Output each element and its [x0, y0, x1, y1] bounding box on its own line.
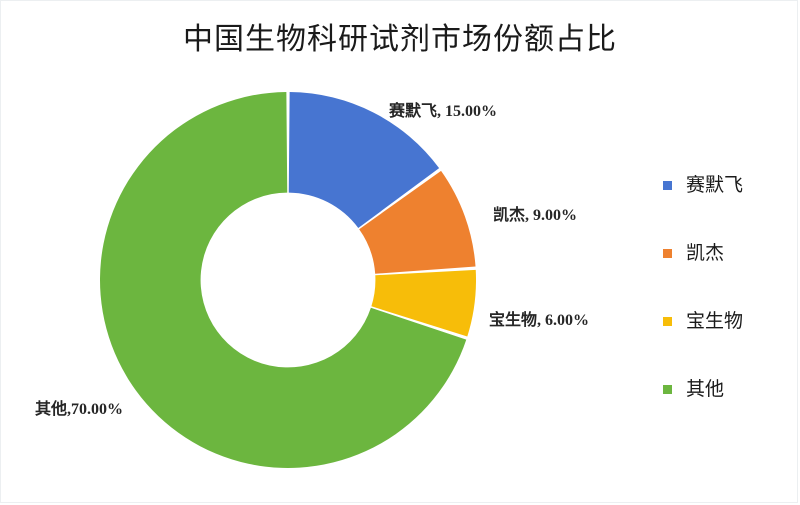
legend-item-qita[interactable]: 其他: [663, 377, 783, 402]
chart-title: 中国生物科研试剂市场份额占比: [1, 14, 799, 58]
data-label-baoshengwu: 宝生物, 6.00%: [489, 306, 589, 330]
legend-swatch-icon-saimofei: [663, 181, 672, 190]
chart-frame: 中国生物科研试剂市场份额占比 赛默飞, 15.00% 凯杰, 9.00% 宝生物…: [0, 0, 798, 503]
data-label-kaijie: 凯杰, 9.00%: [493, 201, 577, 225]
legend-item-kaijie[interactable]: 凯杰: [663, 241, 783, 266]
legend-label-kaijie: 凯杰: [686, 244, 724, 263]
legend-item-saimofei[interactable]: 赛默飞: [663, 173, 783, 198]
doughnut-chart-plot-area: [100, 92, 476, 468]
legend-label-baoshengwu: 宝生物: [686, 312, 743, 331]
legend-item-baoshengwu[interactable]: 宝生物: [663, 309, 783, 334]
data-label-saimofei: 赛默飞, 15.00%: [389, 97, 497, 121]
legend-swatch-icon-kaijie: [663, 249, 672, 258]
legend-swatch-icon-qita: [663, 385, 672, 394]
legend-label-qita: 其他: [686, 380, 724, 399]
legend-label-saimofei: 赛默飞: [686, 176, 743, 195]
data-label-qita: 其他,70.00%: [35, 395, 123, 419]
legend-swatch-icon-baoshengwu: [663, 317, 672, 326]
doughnut-slices: [100, 92, 476, 468]
doughnut-chart-svg: [100, 92, 476, 468]
chart-legend: 赛默飞 凯杰 宝生物 其他: [663, 173, 783, 402]
